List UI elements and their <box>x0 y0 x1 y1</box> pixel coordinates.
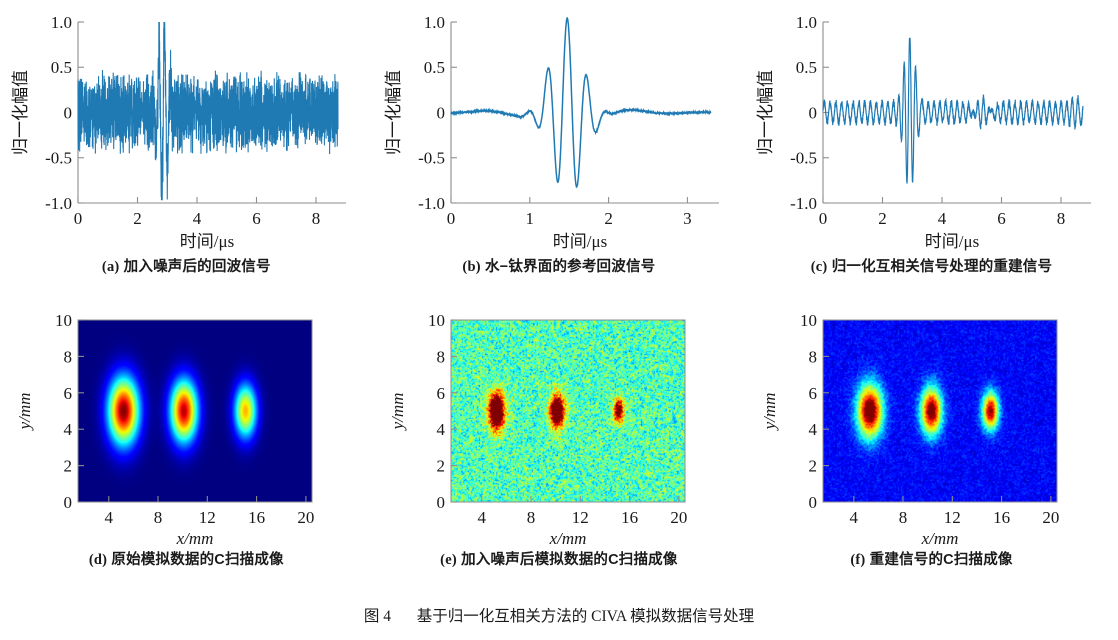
ytick-label: 10 <box>800 311 817 330</box>
panel-e-ytick-labels: 10 8 6 4 2 0 <box>428 311 445 512</box>
xtick-label: 0 <box>819 209 828 228</box>
panel-c-xtick-labels: 0 2 4 6 8 <box>819 209 1065 228</box>
ytick-label: 0.5 <box>796 58 817 77</box>
panel-a-plot: 1.0 0.5 0 -0.5 -1.0 0 2 4 6 8 时间/μs 归一化 <box>0 0 373 255</box>
ytick-label: 1.0 <box>51 13 72 32</box>
ytick-label: 1.0 <box>796 13 817 32</box>
panel-b-yaxis-label: 归一化幅值 <box>384 70 403 155</box>
ytick-label: 4 <box>809 420 818 439</box>
panel-c-label: (c) <box>811 259 828 275</box>
xtick-label: 2 <box>604 209 613 228</box>
ytick-label: -0.5 <box>418 149 445 168</box>
xtick-label: 12 <box>571 508 588 527</box>
panel-d-xtick-labels: 4 8 12 16 20 <box>105 508 315 527</box>
xtick-label: 1 <box>525 209 534 228</box>
ytick-label: 1.0 <box>423 13 444 32</box>
panel-b-caption: (b) 水−钛界面的参考回波信号 <box>373 255 746 276</box>
ytick-label: 0 <box>809 493 818 512</box>
ytick-label: -1.0 <box>418 194 445 213</box>
panel-a-ytick-labels: 1.0 0.5 0 -0.5 -1.0 <box>45 13 72 213</box>
panel-d-xaxis-label: x/mm <box>176 529 214 548</box>
panel-e-label: (e) <box>440 552 457 568</box>
ytick-label: 6 <box>436 384 445 403</box>
ytick-label: 0 <box>809 104 818 123</box>
panel-f-chart: 10 8 6 4 2 0 4 8 12 16 20 x/mm <box>745 298 1118 548</box>
panel-a-caption-text: 加入噪声后的回波信号 <box>124 259 271 275</box>
panel-f-plot: 10 8 6 4 2 0 4 8 12 16 20 x/mm <box>745 298 1118 548</box>
panel-b-label: (b) <box>462 259 480 275</box>
ytick-label: -0.5 <box>790 149 817 168</box>
xtick-label: 16 <box>621 508 638 527</box>
panel-d-plot: 10 8 6 4 2 0 4 8 12 16 20 x/mm <box>0 298 373 548</box>
panel-e-plot: 10 8 6 4 2 0 4 8 12 16 20 x/mm <box>373 298 746 548</box>
panel-b: 1.0 0.5 0 -0.5 -1.0 0 1 2 3 时间/μs 归一化幅值 <box>373 0 746 276</box>
panel-a-waveform <box>78 22 338 200</box>
figure-number: 图 4 <box>364 608 391 625</box>
ytick-label: 4 <box>63 420 72 439</box>
ytick-label: 2 <box>809 457 818 476</box>
figure-container: 1.0 0.5 0 -0.5 -1.0 0 2 4 6 8 时间/μs 归一化 <box>0 0 1118 640</box>
panel-f-xaxis-label: x/mm <box>921 529 959 548</box>
panel-a-chart: 1.0 0.5 0 -0.5 -1.0 0 2 4 6 8 时间/μs 归一化 <box>0 0 373 255</box>
panel-d-chart: 10 8 6 4 2 0 4 8 12 16 20 x/mm <box>0 298 373 548</box>
panel-f: 10 8 6 4 2 0 4 8 12 16 20 x/mm <box>745 298 1118 569</box>
xtick-label: 16 <box>248 508 265 527</box>
panel-a: 1.0 0.5 0 -0.5 -1.0 0 2 4 6 8 时间/μs 归一化 <box>0 0 373 276</box>
cscan-image-e <box>451 320 685 502</box>
panel-f-caption: (f) 重建信号的C扫描成像 <box>745 548 1118 569</box>
ytick-label: 0 <box>63 104 72 123</box>
panel-f-caption-text: 重建信号的C扫描成像 <box>870 552 1013 568</box>
panel-e-image <box>451 320 685 502</box>
ytick-label: 0.5 <box>423 58 444 77</box>
panel-d-image <box>78 320 312 502</box>
panel-c-plot: 1.0 0.5 0 -0.5 -1.0 0 2 4 6 8 时间/μs 归一化 <box>745 0 1118 255</box>
figure-row-bottom: 10 8 6 4 2 0 4 8 12 16 20 x/mm <box>0 298 1118 569</box>
xtick-label: 8 <box>154 508 162 527</box>
panel-c-waveform <box>823 38 1083 183</box>
panel-e-yaxis-label: y/mm <box>388 393 407 432</box>
panel-b-ytick-labels: 1.0 0.5 0 -0.5 -1.0 <box>418 13 445 213</box>
xtick-label: 6 <box>252 209 261 228</box>
xtick-label: 12 <box>944 508 961 527</box>
panel-d-ytick-labels: 10 8 6 4 2 0 <box>55 311 72 512</box>
ytick-label: 8 <box>436 347 445 366</box>
xtick-label: 4 <box>477 508 486 527</box>
panel-e-caption: (e) 加入噪声后模拟数据的C扫描成像 <box>373 548 746 569</box>
panel-b-chart: 1.0 0.5 0 -0.5 -1.0 0 1 2 3 时间/μs 归一化幅值 <box>373 0 746 255</box>
panel-b-xaxis-label: 时间/μs <box>552 232 606 251</box>
xtick-label: 6 <box>997 209 1006 228</box>
panel-f-image <box>823 320 1057 502</box>
cscan-image-f <box>823 320 1057 502</box>
panel-b-caption-text: 水−钛界面的参考回波信号 <box>485 259 655 275</box>
xtick-label: 8 <box>312 209 321 228</box>
panel-f-yaxis-label: y/mm <box>760 393 779 432</box>
xtick-label: 2 <box>133 209 142 228</box>
panel-a-xtick-labels: 0 2 4 6 8 <box>74 209 320 228</box>
ytick-label: -1.0 <box>790 194 817 213</box>
ytick-label: 0.5 <box>51 58 72 77</box>
ytick-label: -0.5 <box>45 149 72 168</box>
ytick-label: 2 <box>63 457 72 476</box>
xtick-label: 2 <box>878 209 887 228</box>
panel-e-chart: 10 8 6 4 2 0 4 8 12 16 20 x/mm <box>373 298 746 548</box>
panel-d-caption-text: 原始模拟数据的C扫描成像 <box>111 552 283 568</box>
ytick-label: 0 <box>63 493 72 512</box>
panel-c-caption-text: 归一化互相关信号处理的重建信号 <box>832 259 1053 275</box>
panel-b-plot: 1.0 0.5 0 -0.5 -1.0 0 1 2 3 时间/μs 归一化幅值 <box>373 0 746 255</box>
figure-row-top: 1.0 0.5 0 -0.5 -1.0 0 2 4 6 8 时间/μs 归一化 <box>0 0 1118 276</box>
ytick-label: 6 <box>809 384 818 403</box>
xtick-label: 4 <box>850 508 859 527</box>
cscan-image-d <box>78 320 312 502</box>
xtick-label: 3 <box>683 209 692 228</box>
xtick-label: 4 <box>938 209 947 228</box>
panel-c: 1.0 0.5 0 -0.5 -1.0 0 2 4 6 8 时间/μs 归一化 <box>745 0 1118 276</box>
panel-d-label: (d) <box>89 552 107 568</box>
xtick-label: 20 <box>670 508 687 527</box>
xtick-label: 8 <box>1057 209 1066 228</box>
xtick-label: 20 <box>297 508 314 527</box>
ytick-label: -1.0 <box>45 194 72 213</box>
panel-f-ytick-labels: 10 8 6 4 2 0 <box>800 311 817 512</box>
ytick-label: 2 <box>436 457 445 476</box>
panel-c-caption: (c) 归一化互相关信号处理的重建信号 <box>745 255 1118 276</box>
xtick-label: 12 <box>199 508 216 527</box>
figure-caption-text: 基于归一化互相关方法的 CIVA 模拟数据信号处理 <box>417 608 754 625</box>
panel-a-label: (a) <box>102 259 120 275</box>
panel-a-xaxis-label: 时间/μs <box>180 232 234 251</box>
xtick-label: 8 <box>526 508 535 527</box>
ytick-label: 10 <box>55 311 72 330</box>
panel-a-caption: (a) 加入噪声后的回波信号 <box>0 255 373 276</box>
figure-caption: 图 4 基于归一化互相关方法的 CIVA 模拟数据信号处理 <box>0 604 1118 626</box>
ytick-label: 8 <box>809 347 818 366</box>
xtick-label: 20 <box>1043 508 1060 527</box>
ytick-label: 0 <box>436 493 445 512</box>
panel-b-waveform <box>451 18 711 187</box>
panel-a-yaxis-label: 归一化幅值 <box>11 70 30 155</box>
xtick-label: 4 <box>105 508 114 527</box>
xtick-label: 8 <box>899 508 908 527</box>
panel-b-xtick-labels: 0 1 2 3 <box>446 209 691 228</box>
panel-f-xtick-labels: 4 8 12 16 20 <box>850 508 1060 527</box>
xtick-label: 0 <box>446 209 455 228</box>
panel-d: 10 8 6 4 2 0 4 8 12 16 20 x/mm <box>0 298 373 569</box>
ytick-label: 6 <box>63 384 72 403</box>
panel-c-yaxis-label: 归一化幅值 <box>756 70 775 155</box>
panel-e-xaxis-label: x/mm <box>548 529 586 548</box>
ytick-label: 4 <box>436 420 445 439</box>
panel-c-xaxis-label: 时间/μs <box>925 232 979 251</box>
xtick-label: 0 <box>74 209 83 228</box>
panel-e-xtick-labels: 4 8 12 16 20 <box>477 508 687 527</box>
panel-f-label: (f) <box>850 552 865 568</box>
ytick-label: 10 <box>428 311 445 330</box>
xtick-label: 4 <box>193 209 202 228</box>
panel-c-ytick-labels: 1.0 0.5 0 -0.5 -1.0 <box>790 13 817 213</box>
panel-d-caption: (d) 原始模拟数据的C扫描成像 <box>0 548 373 569</box>
panel-e: 10 8 6 4 2 0 4 8 12 16 20 x/mm <box>373 298 746 569</box>
panel-c-chart: 1.0 0.5 0 -0.5 -1.0 0 2 4 6 8 时间/μs 归一化 <box>745 0 1118 255</box>
ytick-label: 8 <box>63 347 72 366</box>
ytick-label: 0 <box>436 104 445 123</box>
panel-d-yaxis-label: y/mm <box>15 393 34 432</box>
xtick-label: 16 <box>993 508 1010 527</box>
panel-e-caption-text: 加入噪声后模拟数据的C扫描成像 <box>461 552 677 568</box>
